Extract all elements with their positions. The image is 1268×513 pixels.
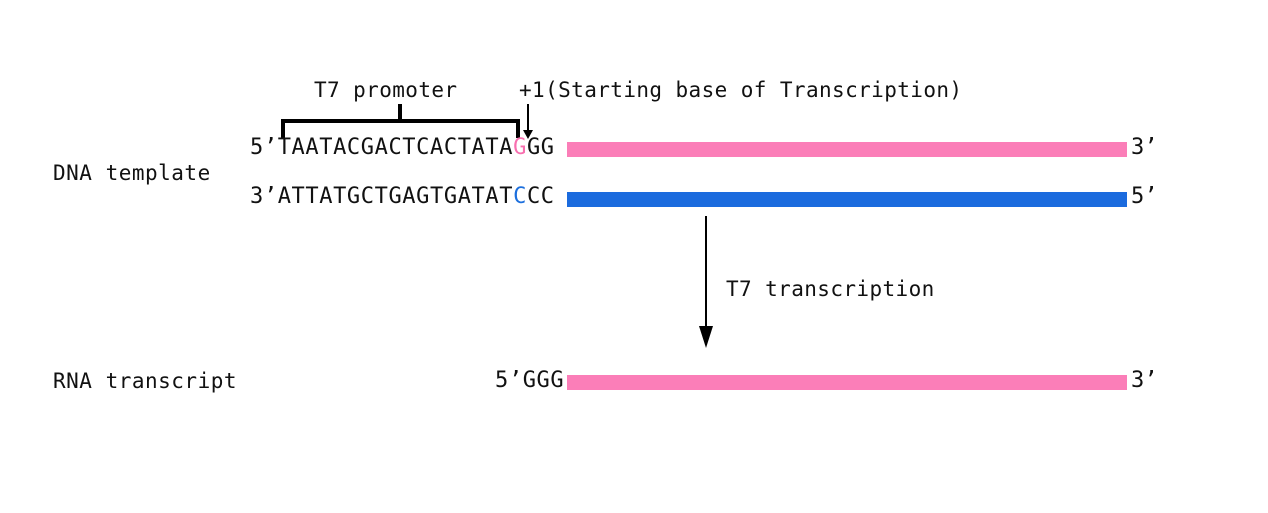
dna-top-five-prime: 5’ (250, 135, 278, 160)
promoter-bracket-stem (398, 104, 402, 120)
dna-bottom-strand-sequence: 3’ATTATGCTGAGTGATATCCC (250, 186, 555, 208)
dna-top-start-base: G (513, 135, 527, 160)
dna-bottom-five-prime: 5’ (1131, 186, 1158, 208)
dna-top-strand-bar (567, 142, 1127, 157)
dna-template-label: DNA template (53, 161, 211, 185)
dna-bottom-start-base: C (513, 184, 527, 209)
dna-top-tail-bases: GG (527, 135, 555, 160)
rna-transcript-sequence: 5’GGG (495, 370, 564, 392)
dna-bottom-strand-bar (567, 192, 1127, 207)
dna-bottom-three-prime: 3’ (250, 184, 278, 209)
dna-top-strand-sequence: 5’TAATACGACTCACTATAGGG (250, 137, 555, 159)
dna-top-promoter-sequence: TAATACGACTCACTATA (278, 135, 513, 160)
start-site-label: +1(Starting base of Transcription) (519, 78, 962, 102)
t7-promoter-label: T7 promoter (314, 78, 457, 102)
transcription-arrow-line (705, 216, 707, 330)
dna-bottom-tail-bases: CC (527, 184, 555, 209)
rna-start-bases: GGG (523, 368, 565, 393)
rna-transcript-label: RNA transcript (53, 369, 237, 393)
t7-transcription-label: T7 transcription (726, 277, 935, 301)
rna-transcript-bar (567, 375, 1127, 390)
figure-canvas: T7 promoter +1(Starting base of Transcri… (0, 0, 1268, 513)
dna-top-three-prime: 3’ (1131, 137, 1158, 159)
rna-five-prime: 5’ (495, 368, 523, 393)
start-site-arrow-line (527, 104, 529, 132)
transcription-arrow-head (699, 326, 713, 348)
dna-bottom-promoter-sequence: ATTATGCTGAGTGATAT (278, 184, 513, 209)
rna-three-prime: 3’ (1131, 370, 1158, 392)
